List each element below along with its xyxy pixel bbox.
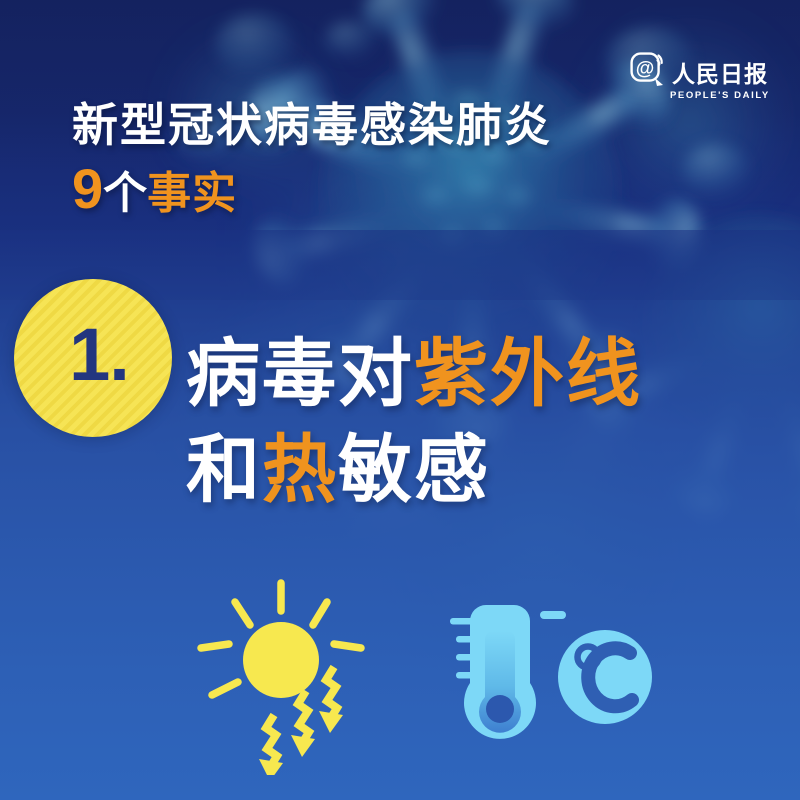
page-title: 新型冠状病毒感染肺炎 xyxy=(72,98,692,152)
fact-statement-line-1: 病毒对紫外线 xyxy=(186,326,786,422)
poster-canvas: @ 人民日报 PEOPLE'S DAILY 新型冠状病毒感染肺炎 9个事实 1.… xyxy=(0,0,800,800)
celsius-badge xyxy=(558,630,652,724)
fact-count: 9 xyxy=(72,157,103,220)
fact-count-unit: 个 xyxy=(103,168,147,219)
statement-seg-3: 和 xyxy=(186,427,262,513)
thermometer-body xyxy=(464,605,536,739)
sun-uv-rays-icon xyxy=(188,575,388,775)
thermometer-celsius-icon xyxy=(448,585,668,765)
statement-seg-1: 病毒对 xyxy=(186,331,414,417)
svg-text:@: @ xyxy=(636,59,655,80)
statement-seg-2: 紫外线 xyxy=(414,331,642,417)
fact-number-badge: 1. xyxy=(14,279,172,437)
headline-subtitle: 9个事实 xyxy=(72,160,692,232)
fact-number-label: 1. xyxy=(69,318,129,392)
fact-statement: 病毒对紫外线 和热敏感 xyxy=(186,326,786,518)
peoples-daily-logo: @ 人民日报 PEOPLE'S DAILY xyxy=(630,52,776,104)
fact-noun: 事实 xyxy=(147,168,237,219)
logo-name-cn: 人民日报 xyxy=(672,62,768,88)
at-sign-signal-icon: @ xyxy=(630,52,666,88)
thermometer-dash-mark xyxy=(540,611,566,619)
statement-seg-4: 热 xyxy=(262,427,338,513)
fact-statement-line-2: 和热敏感 xyxy=(186,422,786,518)
headline-block: 新型冠状病毒感染肺炎 9个事实 xyxy=(72,98,692,232)
statement-seg-5: 敏感 xyxy=(338,427,490,513)
